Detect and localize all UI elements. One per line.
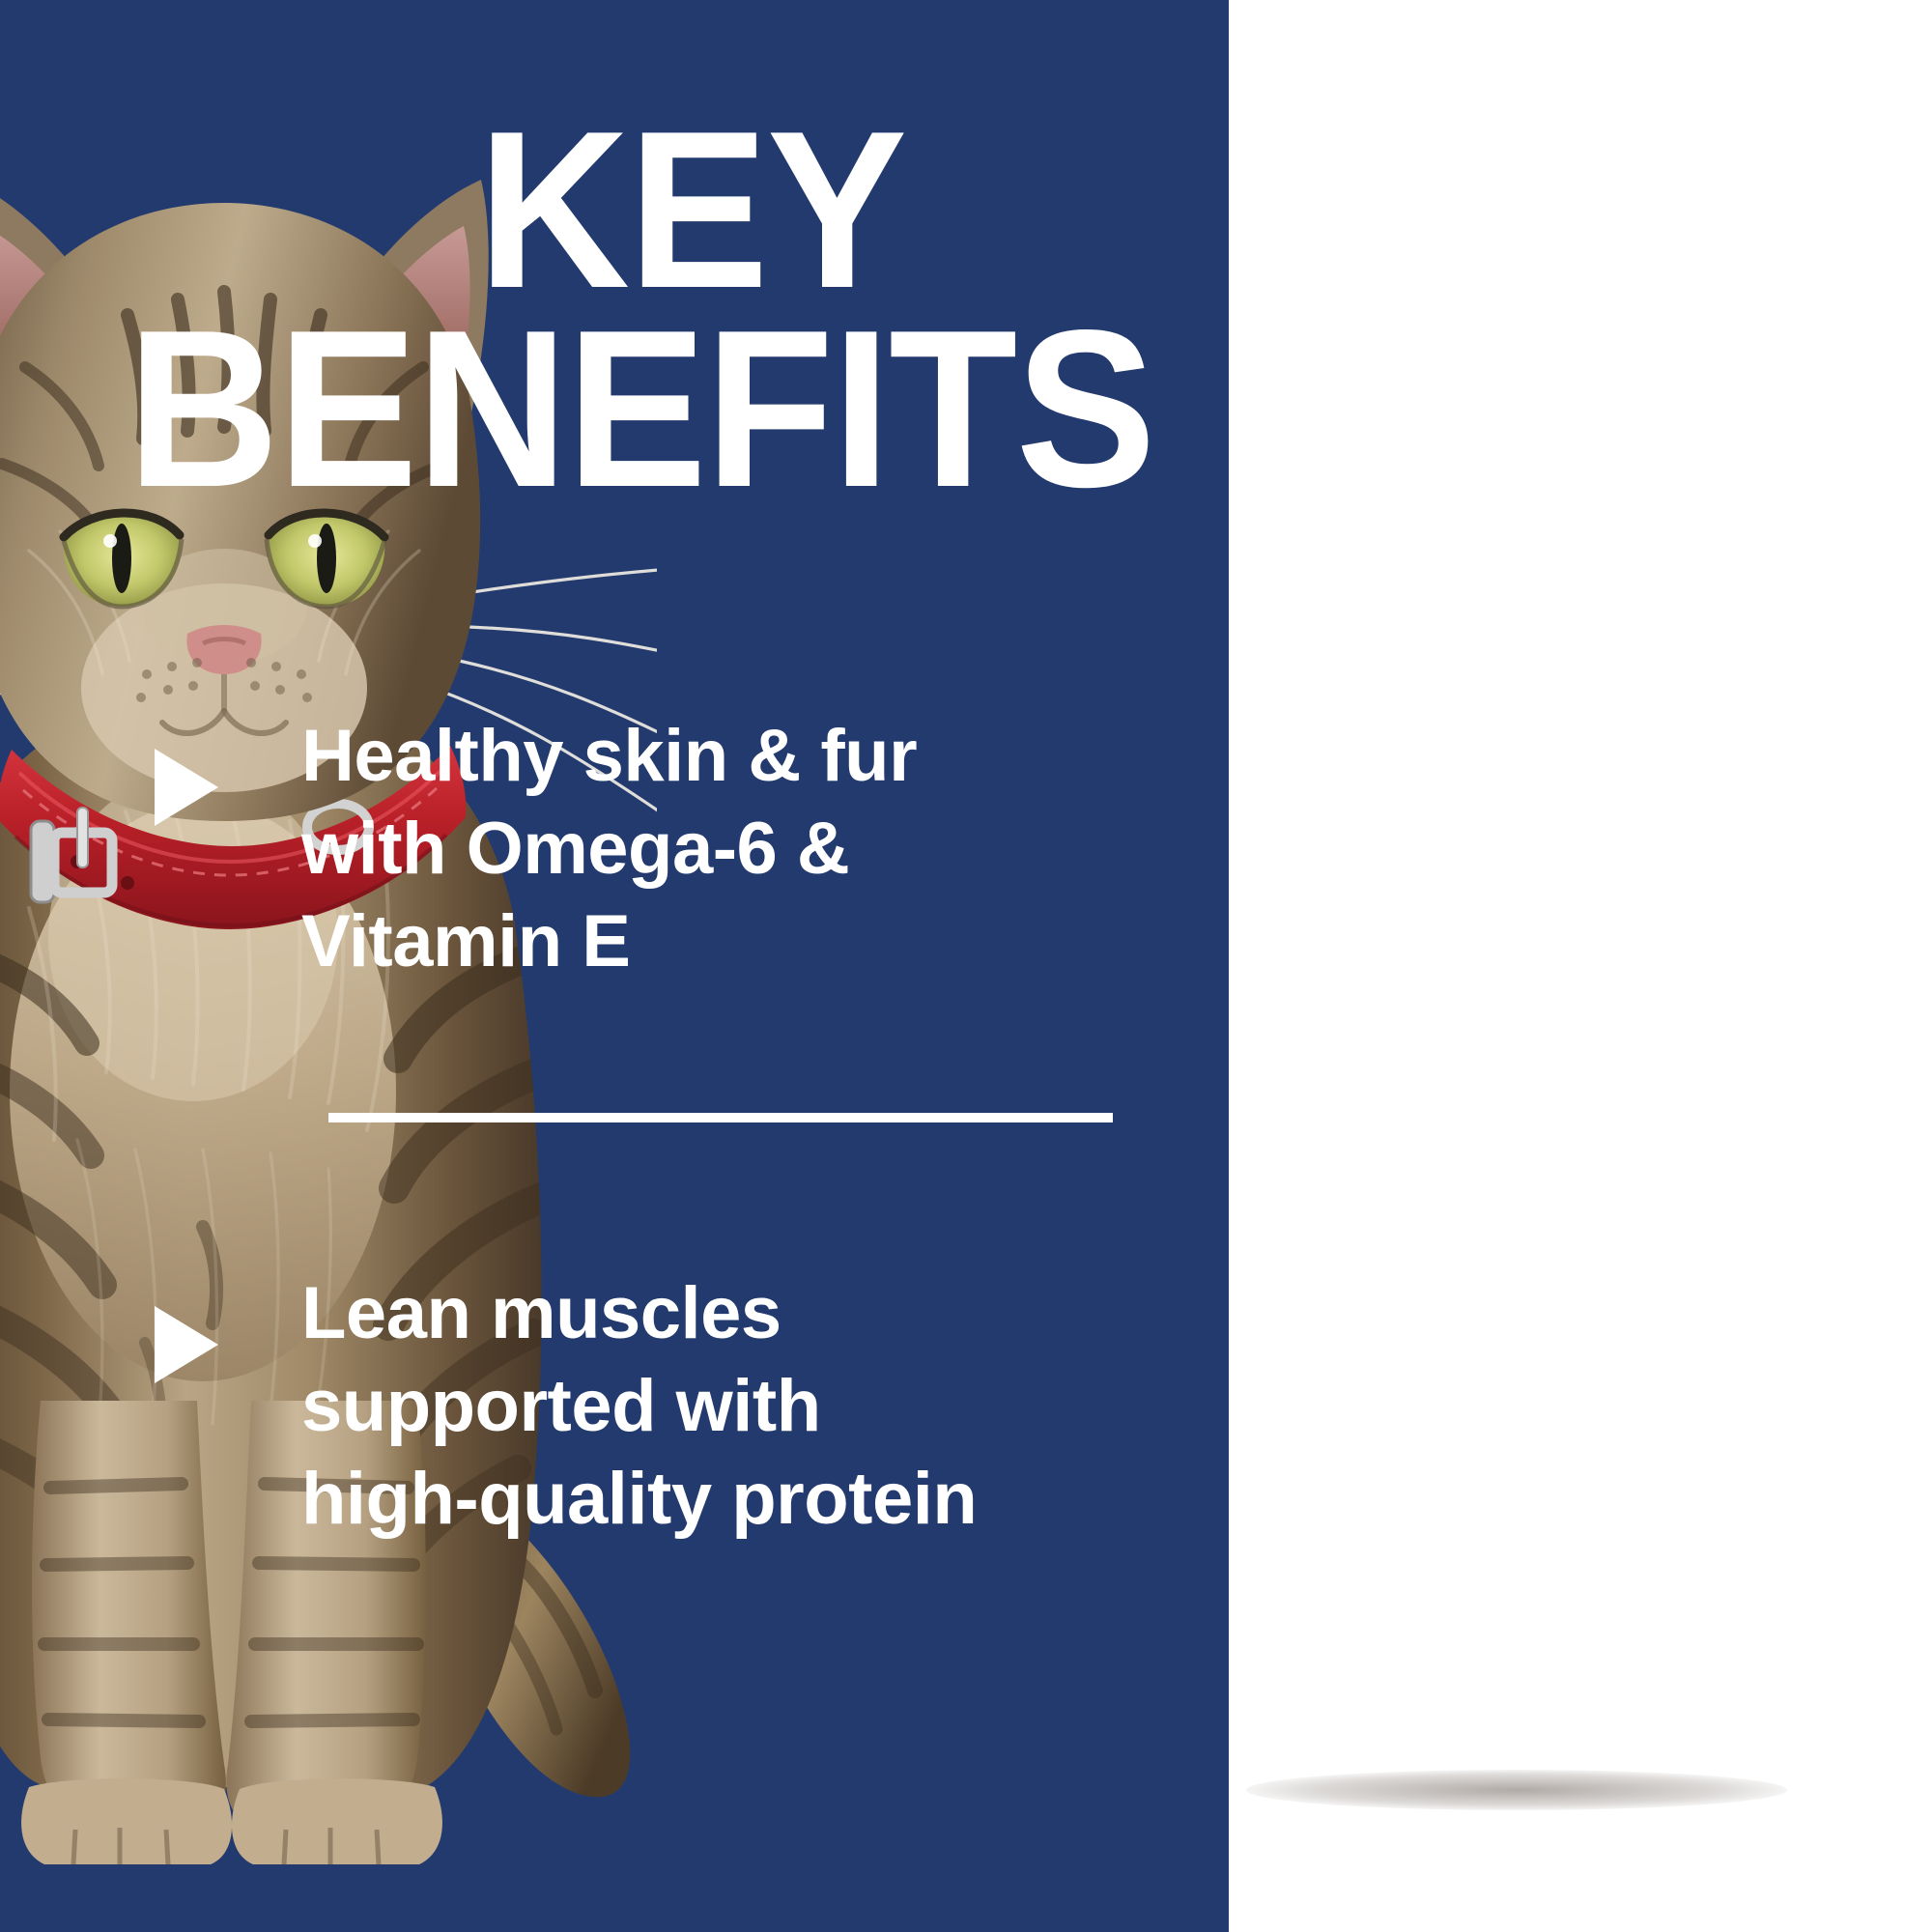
benefit-2-line-2: supported with: [301, 1360, 977, 1453]
page-title-line-2: BENEFITS: [71, 313, 1169, 506]
key-benefits-panel: KEY BENEFITS Healthy skin & fur with Ome…: [0, 0, 1932, 1932]
benefits-divider: [328, 1113, 1113, 1122]
benefit-1-line-3: Vitamin E: [301, 895, 917, 988]
benefit-2-line-3: high-quality protein: [301, 1453, 977, 1546]
page-title: KEY BENEFITS: [0, 114, 1169, 505]
benefit-item-2-text: Lean muscles supported with high-quality…: [301, 1267, 977, 1545]
benefit-1-line-2: with Omega-6 &: [301, 803, 917, 895]
benefit-item-2: Lean muscles supported with high-quality…: [0, 1267, 1229, 1545]
benefit-item-1-text: Healthy skin & fur with Omega-6 & Vitami…: [301, 710, 917, 987]
benefits-divider-wrapper: [0, 987, 1229, 1267]
cat-floor-shadow: [1246, 1770, 1787, 1810]
page-title-line-1: KEY: [71, 114, 1169, 307]
benefit-1-line-1: Healthy skin & fur: [301, 710, 917, 803]
triangle-right-icon: [155, 1306, 218, 1383]
triangle-right-icon: [155, 749, 218, 826]
benefit-2-line-1: Lean muscles: [301, 1267, 977, 1360]
benefit-item-1: Healthy skin & fur with Omega-6 & Vitami…: [0, 710, 1229, 987]
product-photo-area: [1229, 0, 1932, 1932]
benefits-list: Healthy skin & fur with Omega-6 & Vitami…: [0, 710, 1229, 1546]
